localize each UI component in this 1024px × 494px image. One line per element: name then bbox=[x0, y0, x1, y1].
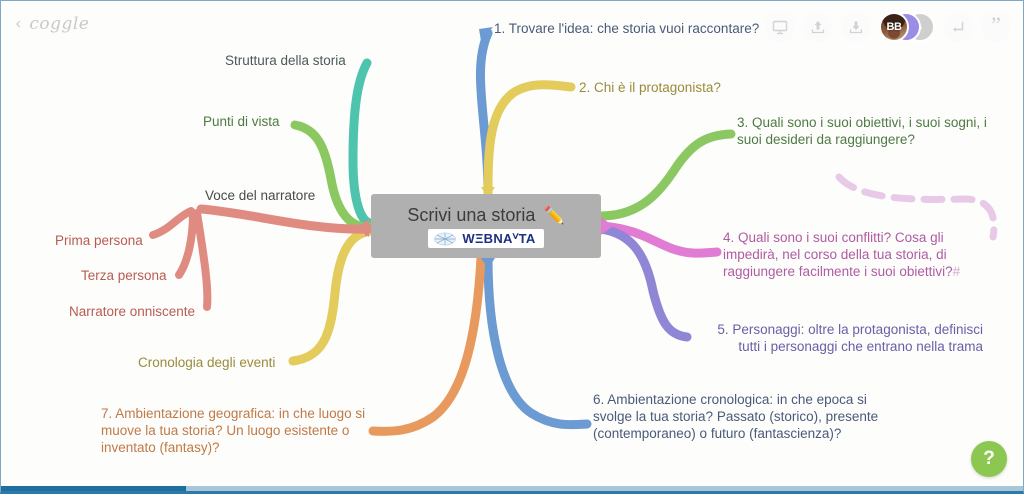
wire-dashed-connector bbox=[839, 177, 994, 237]
branch-label-3[interactable]: 3. Quali sono i suoi obiettivi, i suoi s… bbox=[737, 114, 999, 148]
wire-branch-11 bbox=[293, 231, 371, 361]
node-arrow-left bbox=[357, 219, 369, 237]
branch-label-punti-di-vista[interactable]: Punti di vista bbox=[203, 113, 280, 130]
node-arrow-bottom bbox=[481, 258, 495, 269]
branch-label-voce-del-narratore[interactable]: Voce del narratore bbox=[205, 187, 315, 204]
branch-label-cronologia[interactable]: Cronologia degli eventi bbox=[138, 354, 275, 371]
branch-label-4[interactable]: 4. Quali sono i suoi conflitti? Cosa gli… bbox=[723, 229, 995, 280]
top-toolbar[interactable]: • BB ” bbox=[765, 12, 1011, 42]
wire-sub-2 bbox=[179, 213, 193, 275]
page-title: Scrivi una storia bbox=[407, 205, 535, 226]
branch-label-struttura[interactable]: Struttura della storia bbox=[225, 52, 346, 69]
horizontal-scrollbar-thumb[interactable] bbox=[1, 486, 186, 491]
branch-label-2[interactable]: 2. Chi è il protagonista? bbox=[579, 79, 721, 96]
upload-icon[interactable] bbox=[803, 12, 833, 42]
avatar[interactable]: BB bbox=[879, 12, 909, 42]
help-button[interactable]: ? bbox=[971, 441, 1007, 477]
webnauta-wordmark: WΞBNAⱽTA bbox=[462, 232, 535, 245]
node-arrow-right bbox=[601, 217, 613, 235]
back-chevron-icon[interactable]: ‹ bbox=[15, 14, 22, 34]
pencil-icon: ✏️ bbox=[543, 207, 564, 224]
wire-branch-1 bbox=[480, 33, 488, 194]
sub-branch-label-prima-persona[interactable]: Prima persona bbox=[55, 232, 143, 249]
sub-branch-label-terza-persona[interactable]: Terza persona bbox=[81, 267, 167, 284]
sub-branch-label-narratore-onniscente[interactable]: Narratore onniscente bbox=[69, 303, 195, 320]
wire-branch-6 bbox=[488, 258, 587, 425]
branch-icon[interactable] bbox=[943, 12, 973, 42]
central-node-title-row: Scrivi una storia ✏️ bbox=[407, 205, 564, 226]
horizontal-scrollbar[interactable] bbox=[1, 486, 1023, 491]
wire-branch-9 bbox=[295, 125, 371, 227]
branch-label-7[interactable]: 7. Ambientazione geografica: in che luog… bbox=[101, 405, 369, 456]
download-icon[interactable] bbox=[841, 12, 871, 42]
wire-branch-3 bbox=[601, 134, 731, 216]
branch-label-5[interactable]: 5. Personaggi: oltre la protagonista, de… bbox=[693, 321, 983, 355]
webnauta-logo: WΞBNAⱽTA bbox=[428, 229, 543, 248]
wire-branch-4 bbox=[601, 226, 717, 253]
wire-branch-10 bbox=[201, 209, 369, 229]
brand-label: coggle bbox=[29, 14, 89, 34]
avatar-initials: BB bbox=[887, 21, 902, 33]
branch-label-1[interactable]: 1. Trovare l'idea: che storia vuoi racco… bbox=[494, 20, 759, 37]
coggle-canvas[interactable]: ‹ coggle • BB ” Scrivi una storia bbox=[0, 0, 1024, 494]
quote-glyph: ” bbox=[991, 14, 1001, 36]
central-node[interactable]: Scrivi una storia ✏️ WΞBNAⱽTA bbox=[371, 194, 601, 258]
branch-label-4-text: 4. Quali sono i suoi conflitti? Cosa gli… bbox=[723, 230, 953, 279]
presentation-icon[interactable] bbox=[765, 12, 795, 42]
branch-4-hash: # bbox=[953, 264, 961, 279]
wire-sub-3 bbox=[197, 213, 207, 307]
globe-compass-icon bbox=[432, 231, 458, 247]
branch-label-6[interactable]: 6. Ambientazione cronologica: in che epo… bbox=[593, 391, 883, 442]
quote-icon[interactable]: ” bbox=[981, 12, 1011, 42]
wire-branch-1-arrow bbox=[479, 27, 493, 41]
wire-branch-2 bbox=[488, 85, 571, 194]
wire-branch-8 bbox=[353, 63, 371, 223]
wire-branch-5 bbox=[601, 229, 687, 337]
coggle-brand[interactable]: ‹ coggle bbox=[15, 14, 89, 34]
wire-sub-1 bbox=[153, 211, 191, 235]
wire-branch-7 bbox=[373, 258, 481, 431]
collaborator-avatars[interactable]: • BB bbox=[879, 12, 935, 42]
